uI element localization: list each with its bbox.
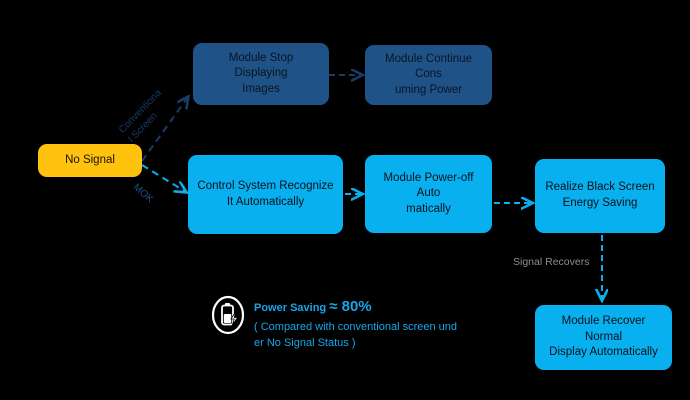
node-continue-power-line2: uming Power	[373, 83, 484, 99]
diagram-canvas: No Signal Module Stop Displaying Images …	[0, 0, 690, 400]
edge-label-conventional-screen: Conventiona l Screen	[117, 88, 174, 146]
node-stop-displaying-line1: Module Stop Displaying	[201, 51, 321, 82]
node-stop-displaying-line2: Images	[201, 82, 321, 98]
node-recognize[interactable]: Control System Recognize It Automaticall…	[188, 155, 343, 234]
power-saving-sub-line2: er No Signal Status )	[254, 335, 457, 352]
node-no-signal[interactable]: No Signal	[38, 144, 142, 177]
power-saving-label: Power Saving	[254, 302, 326, 314]
node-continue-power[interactable]: Module Continue Cons uming Power	[365, 45, 492, 105]
edge-label-mok: MOK	[131, 182, 155, 205]
power-saving-note: Power Saving ≈ 80% ( Compared with conve…	[210, 294, 480, 352]
node-recover-line1: Module Recover Normal	[543, 314, 664, 345]
node-black-screen[interactable]: Realize Black Screen Energy Saving	[535, 159, 665, 233]
node-power-off-line2: matically	[373, 202, 484, 218]
node-recover[interactable]: Module Recover Normal Display Automatica…	[535, 305, 672, 370]
node-black-screen-line1: Realize Black Screen	[545, 180, 654, 196]
node-recognize-line1: Control System Recognize	[197, 179, 333, 195]
node-continue-power-line1: Module Continue Cons	[373, 52, 484, 83]
power-saving-headline: Power Saving ≈ 80%	[254, 296, 457, 319]
battery-charging-icon	[210, 294, 246, 336]
node-power-off[interactable]: Module Power-off Auto matically	[365, 155, 492, 233]
edge-label-signal-recovers: Signal Recovers	[513, 256, 589, 268]
power-saving-sub-line1: ( Compared with conventional screen und	[254, 319, 457, 336]
node-recognize-line2: It Automatically	[197, 195, 333, 211]
edge-nosignal-to-recognize	[142, 165, 186, 192]
node-stop-displaying[interactable]: Module Stop Displaying Images	[193, 43, 329, 105]
node-no-signal-line1: No Signal	[65, 153, 115, 169]
power-saving-value: ≈ 80%	[329, 298, 371, 315]
node-black-screen-line2: Energy Saving	[545, 196, 654, 212]
node-power-off-line1: Module Power-off Auto	[373, 171, 484, 202]
node-recover-line2: Display Automatically	[543, 345, 664, 361]
